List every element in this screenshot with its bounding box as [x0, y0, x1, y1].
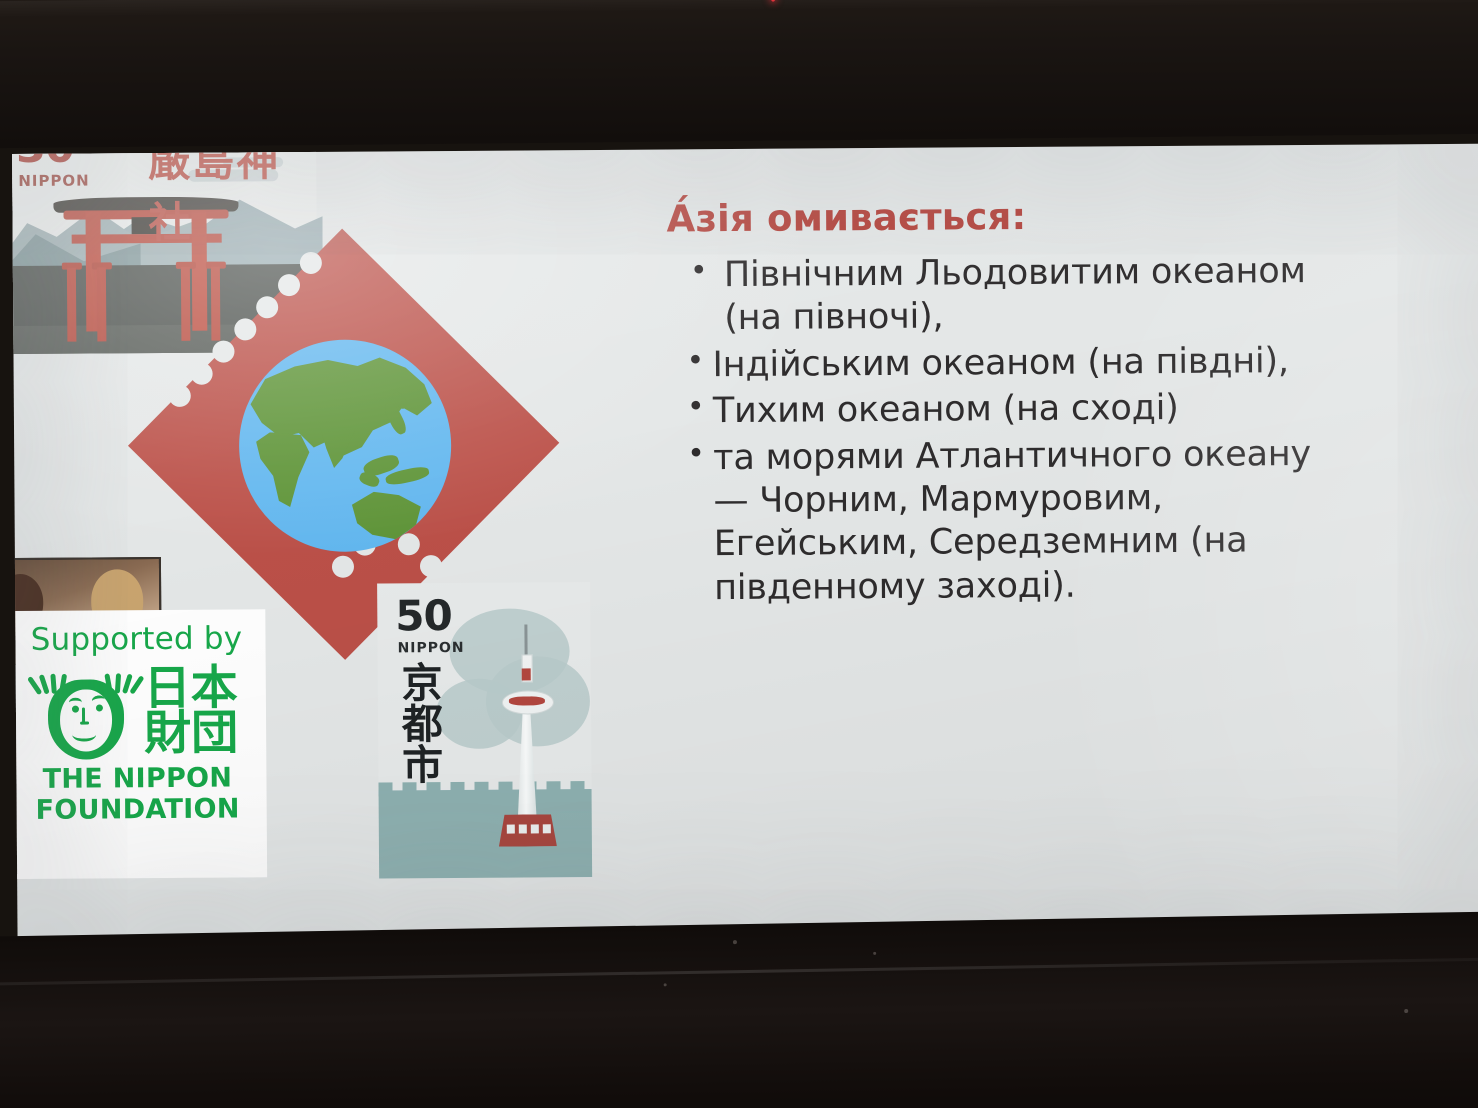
stamp-kyoto-50: 50 NIPPON 京都市: [377, 582, 592, 878]
stamp-country-label: NIPPON: [397, 640, 464, 656]
slide-title: А́зія омивається:: [666, 191, 1478, 240]
presentation-slide: ☎ You are screen sharing ☁ 🛡 Stop Share: [12, 144, 1478, 940]
screen-bezel-top: [0, 0, 1478, 148]
list-item: Індійським океаном (на півдні),: [656, 338, 1478, 388]
logo-mark-row: 日本 財団: [12, 658, 266, 764]
laptop-deck: [0, 911, 1478, 1108]
stamp-country-label: NIPPON: [18, 172, 90, 190]
list-item: Тихим океаном (на сході): [657, 384, 1478, 434]
ground-shape: [379, 789, 593, 878]
kyoto-tower-icon: [495, 624, 559, 844]
logo-kanji: 日本 財団: [144, 665, 239, 756]
bezel-highlight: [0, 0, 1478, 17]
slide-bullet-list: Північним Льодовитим океаном (на півночі…: [656, 248, 1478, 610]
list-item: та морями Атлантичного океану — Чорним, …: [657, 431, 1478, 611]
landmass-africa: [249, 432, 320, 510]
logo-kanji-line-2: 財団: [144, 710, 238, 756]
logo-kanji-line-1: 日本: [144, 665, 238, 711]
logo-name-line-2: FOUNDATION: [12, 795, 267, 825]
person-raising-hands-icon: [36, 661, 137, 762]
supported-by-label: Supported by: [12, 623, 265, 656]
stamp-kanji-label: 京都市: [396, 661, 441, 784]
list-item: Північним Льодовитим океаном (на півночі…: [656, 248, 1478, 341]
laptop-photo: ☎ You are screen sharing ☁ 🛡 Stop Share: [0, 0, 1478, 1108]
laptop-screen: ☎ You are screen sharing ☁ 🛡 Stop Share: [12, 144, 1478, 940]
nippon-foundation-logo: Supported by: [12, 609, 267, 879]
globe-illustration: [238, 339, 451, 552]
logo-name-line-1: THE NIPPON: [12, 764, 266, 794]
stamp-denomination: 50: [395, 595, 452, 637]
slide-text-column: А́зія омивається: Північним Льодовитим о…: [655, 191, 1478, 613]
deck-edge-highlight: [0, 957, 1478, 986]
keyboard-backlight: [0, 1093, 307, 1108]
laptop-lid: ☎ You are screen sharing ☁ 🛡 Stop Share: [0, 0, 1478, 1108]
